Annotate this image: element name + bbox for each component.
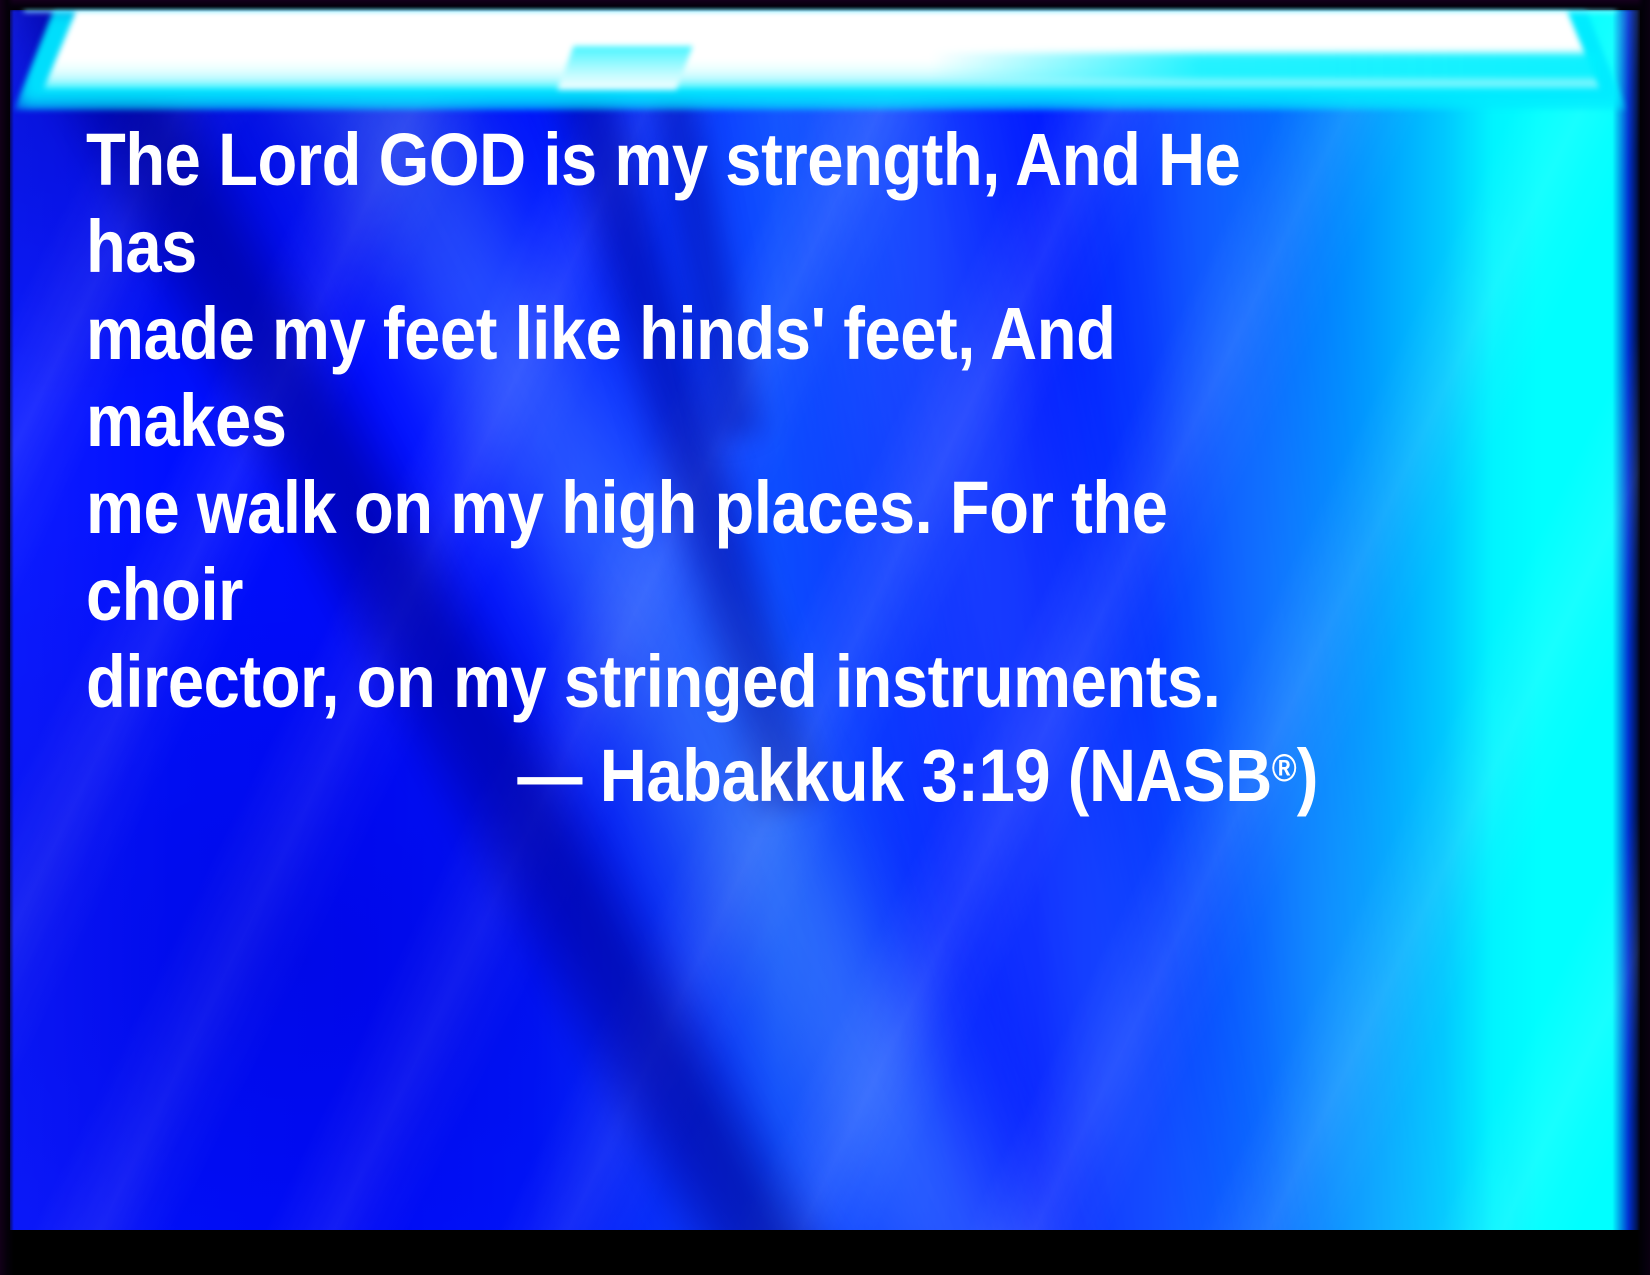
attribution-chapter-verse: 3:19 [922,734,1051,817]
verse-text-block: The Lord GOD is my strength, And He has … [86,116,1318,819]
verse-line-3: me walk on my high places. For the choir [86,464,1318,638]
attribution-translation-close: ) [1297,734,1318,817]
banner-top-edge [24,7,1616,12]
banner-cyan-notch [557,46,692,90]
registered-trademark-icon: ® [1272,747,1297,790]
verse-attribution: — Habakkuk 3:19 (NASB®) [86,725,1318,819]
banner-cyan-smear [931,53,1600,80]
attribution-book: Habakkuk [600,734,904,817]
verse-line-1: The Lord GOD is my strength, And He has [86,116,1318,290]
glowing-header-banner [24,10,1616,90]
verse-line-4: director, on my stringed instruments. [86,638,1318,725]
attribution-translation-open: (NASB [1068,734,1272,817]
attribution-em-dash: — [517,734,582,817]
verse-line-2: made my feet like hinds' feet, And makes [86,290,1318,464]
verse-image-canvas: The Lord GOD is my strength, And He has … [0,0,1650,1275]
